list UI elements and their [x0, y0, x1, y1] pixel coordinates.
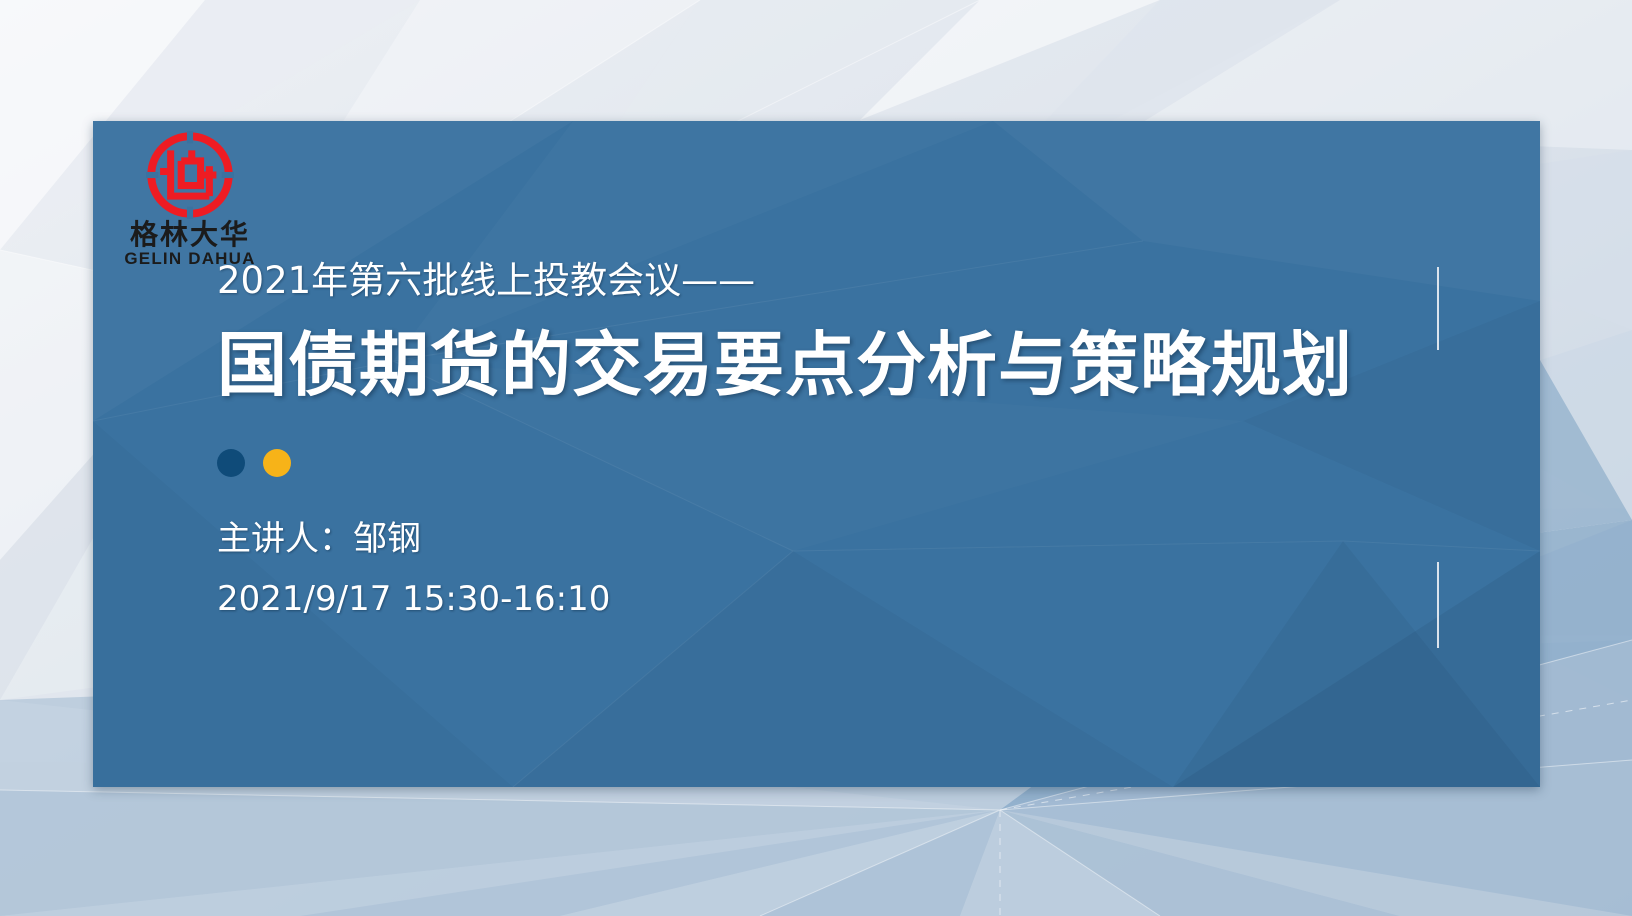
speaker-line: 主讲人：邹钢	[217, 521, 1353, 558]
gold-dot	[263, 449, 291, 477]
title-text-block: 2021年第六批线上投教会议—— 国债期货的交易要点分析与策略规划 主讲人：邹钢…	[217, 261, 1353, 618]
slide-title: 国债期货的交易要点分析与策略规划	[217, 328, 1353, 404]
decorative-rule-top	[1437, 267, 1439, 350]
navy-dot	[217, 449, 245, 477]
content-panel: 格林大华 GELIN DAHUA 2021年第六批线上投教会议—— 国债期货的交…	[93, 121, 1540, 787]
datetime-line: 2021/9/17 15:30-16:10	[217, 581, 1353, 618]
company-logo: 格林大华 GELIN DAHUA	[110, 131, 270, 268]
decorative-rule-bottom	[1437, 562, 1439, 648]
title-slide: 格林大华 GELIN DAHUA 2021年第六批线上投教会议—— 国债期货的交…	[0, 0, 1632, 916]
accent-dot-group	[217, 449, 1353, 477]
gelin-dahua-seal-icon	[146, 131, 234, 219]
slide-subtitle: 2021年第六批线上投教会议——	[217, 261, 1353, 302]
logo-chinese-name: 格林大华	[110, 220, 270, 249]
